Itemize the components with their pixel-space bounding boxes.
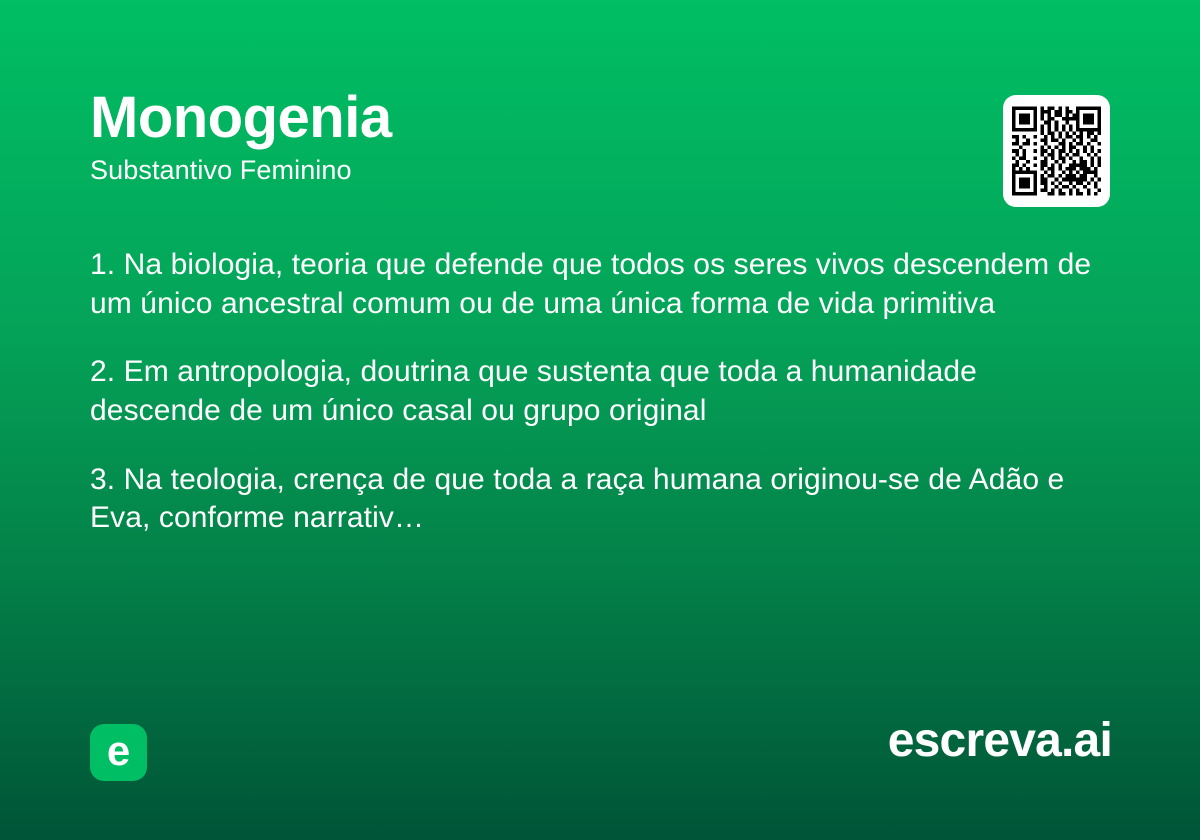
escreva-logo-badge: e (90, 724, 147, 781)
qr-code-icon (1012, 103, 1101, 199)
part-of-speech-label: Substantivo Feminino (90, 154, 970, 186)
definition-item: 1. Na biologia, teoria que defende que t… (90, 246, 1110, 323)
page-title: Monogenia (90, 88, 970, 148)
logo-e-glyph: e (107, 730, 130, 772)
definition-item: 3. Na teologia, crença de que toda a raç… (90, 461, 1110, 538)
dictionary-entry-card: Monogenia Substantivo Feminino (0, 0, 1200, 840)
definition-list: 1. Na biologia, teoria que defende que t… (90, 246, 1110, 538)
entry-header: Monogenia Substantivo Feminino (90, 88, 970, 187)
definition-item: 2. Em antropologia, doutrina que sustent… (90, 353, 1110, 430)
brand-wordmark: escreva.ai (888, 717, 1112, 765)
qr-code-card[interactable] (1003, 95, 1110, 207)
